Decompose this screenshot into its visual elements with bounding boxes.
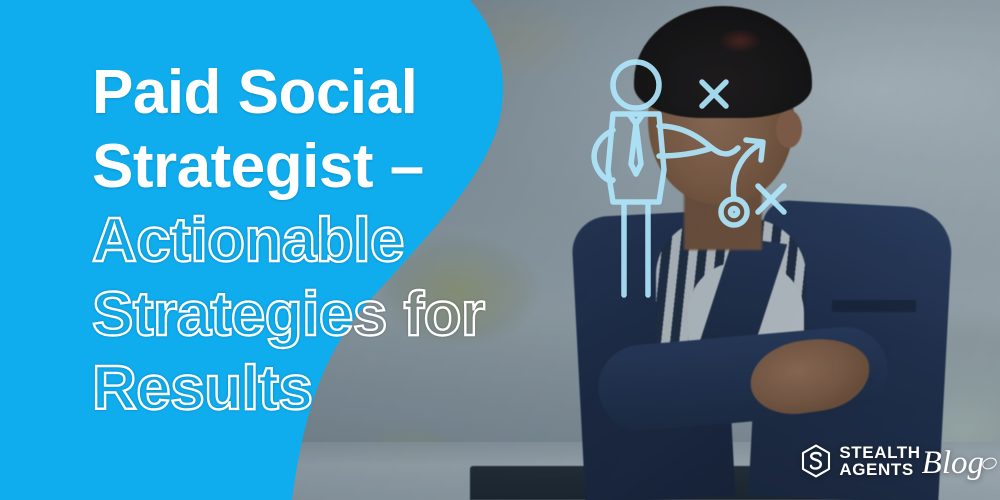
logo-line-stealth: STEALTH	[839, 444, 920, 461]
stealth-agents-blog-logo[interactable]: STEALTH AGENTS Blog	[800, 444, 984, 478]
headline-line-4: Strategies for	[92, 278, 792, 352]
blog-featured-banner: Paid Social Strategist – Actionable Stra…	[0, 0, 1000, 500]
logo-blog-script: Blog	[922, 448, 984, 478]
hexagon-s-glyph	[811, 453, 821, 469]
logo-wordmark: STEALTH AGENTS	[839, 444, 920, 478]
banner-headline: Paid Social Strategist – Actionable Stra…	[92, 56, 792, 426]
headline-line-3: Actionable	[92, 204, 792, 278]
hexagon-s-icon	[800, 444, 832, 478]
logo-line-agents: AGENTS	[839, 461, 920, 478]
headline-line-5: Results	[92, 352, 792, 426]
headline-line-1: Paid Social	[92, 56, 792, 130]
headline-line-2: Strategist –	[92, 130, 792, 204]
